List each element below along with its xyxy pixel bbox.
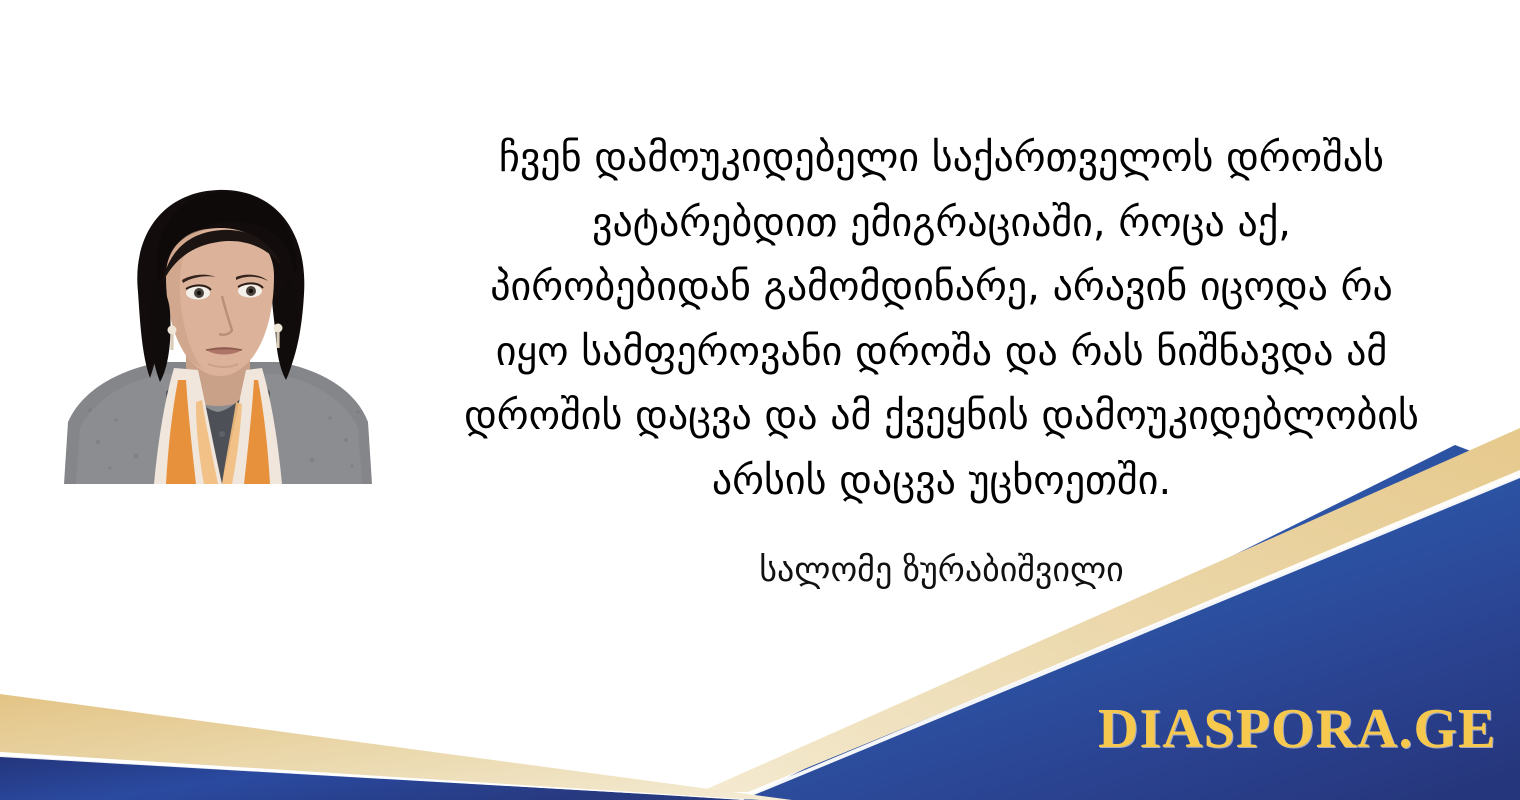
quote-line-1: ჩვენ დამოუკიდებელი საქართველოს დროშას bbox=[414, 126, 1469, 191]
navy-wedge-left bbox=[0, 756, 748, 800]
quote-card: ჩვენ დამოუკიდებელი საქართველოს დროშას ვა… bbox=[0, 0, 1520, 800]
quote-line-4: იყო სამფეროვანი დროშა და რას ნიშნავდა ამ bbox=[414, 320, 1469, 385]
portrait bbox=[46, 172, 391, 484]
quote-line-5: დროშის დაცვა და ამ ქვეყნის დამოუკიდებლობ… bbox=[414, 384, 1469, 449]
portrait-illustration bbox=[46, 172, 391, 484]
white-sliver-left bbox=[0, 752, 752, 800]
brand-logo[interactable]: DIASPORA.GE bbox=[1098, 700, 1496, 758]
quote-text: ჩვენ დამოუკიდებელი საქართველოს დროშას ვა… bbox=[414, 126, 1469, 513]
quote-line-3: პირობებიდან გამომდინარე, არავინ იცოდა რა bbox=[414, 255, 1469, 320]
gold-band-left bbox=[0, 694, 792, 800]
quote-line-6: არსის დაცვა უცხოეთში. bbox=[414, 449, 1469, 514]
quote-attribution: სალომე ზურაბიშვილი bbox=[414, 548, 1469, 592]
quote-line-2: ვატარებდით ემიგრაციაში, როცა აქ, bbox=[414, 191, 1469, 256]
